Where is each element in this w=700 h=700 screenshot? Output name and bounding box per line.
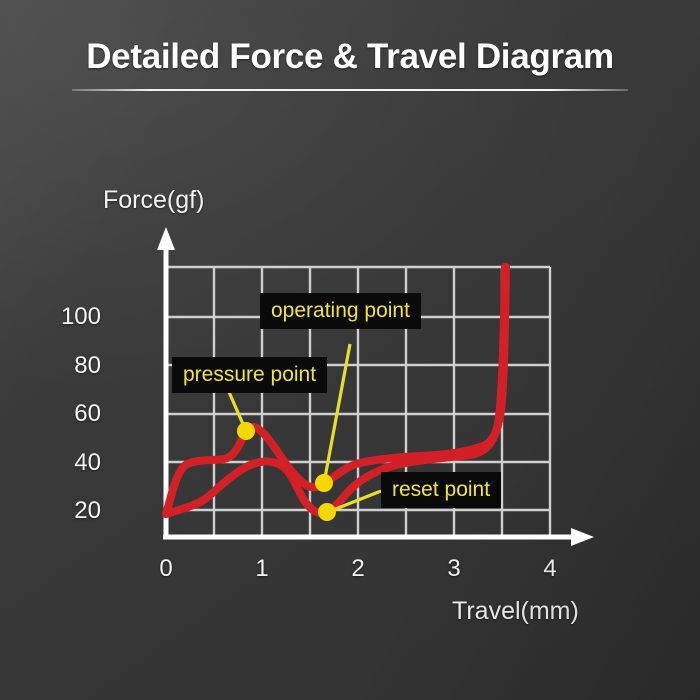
page-title: Detailed Force & Travel Diagram [0, 36, 700, 78]
callout-pressure-point: pressure point [172, 357, 327, 393]
marker-operating-point [315, 474, 333, 492]
marker-reset-point [318, 503, 336, 521]
title-block: Detailed Force & Travel Diagram [0, 36, 700, 91]
marker-pressure-point [237, 422, 255, 440]
callout-reset-point: reset point [381, 472, 501, 508]
diagram-canvas: Detailed Force & Travel Diagram [0, 0, 700, 700]
force-travel-chart [0, 0, 700, 700]
title-underline-rule [72, 89, 628, 91]
callout-operating-point: operating point [260, 293, 421, 329]
